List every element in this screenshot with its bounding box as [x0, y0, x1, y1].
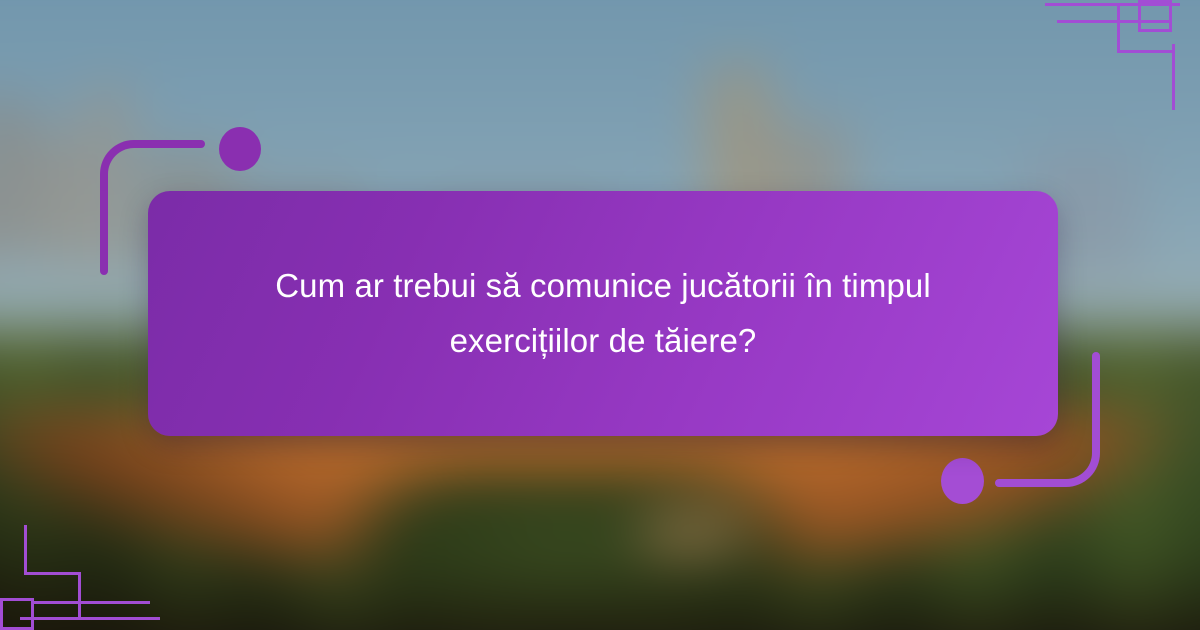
bracket-arm-horizontal	[150, 140, 205, 148]
background-shadow-bottom	[0, 564, 1200, 630]
bracket-arm-vertical	[100, 190, 108, 275]
question-card-banner: Cum ar trebui să comunice jucătorii în t…	[0, 0, 1200, 630]
background-pitchers-mound	[570, 473, 606, 494]
bracket-elbow-icon	[1040, 427, 1100, 487]
circuit-pattern-bottom-left	[0, 525, 165, 630]
question-text: Cum ar trebui să comunice jucătorii în t…	[203, 259, 1003, 368]
circuit-pattern-top-right	[1035, 0, 1200, 110]
question-card: Cum ar trebui să comunice jucătorii în t…	[148, 191, 1058, 436]
dot-accent-bottom	[941, 458, 984, 504]
bracket-arm-horizontal	[995, 479, 1050, 487]
skyline-building	[28, 135, 86, 262]
bracket-arm-vertical	[1092, 352, 1100, 437]
dot-accent-top	[219, 127, 261, 171]
bracket-elbow-icon	[100, 140, 160, 200]
background-home-plate-area	[634, 511, 751, 553]
